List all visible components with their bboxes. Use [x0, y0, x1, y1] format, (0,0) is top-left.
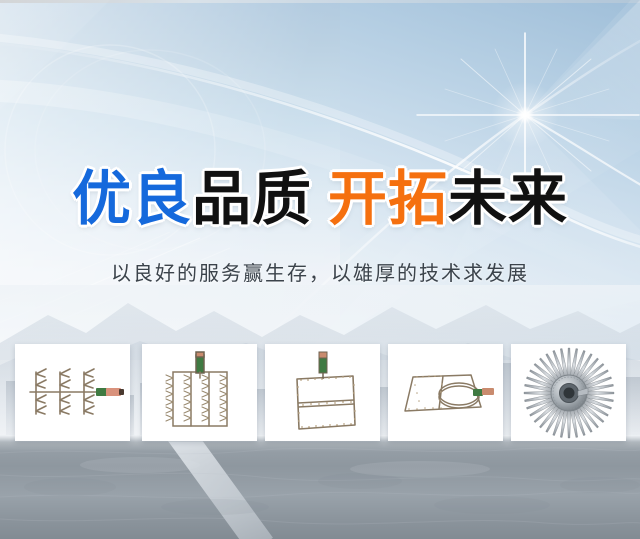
promo-banner: 优良品质开拓未来 以良好的服务赢生存，以雄厚的技术求发展 — [0, 0, 640, 539]
page-title: 优良品质开拓未来 — [0, 166, 640, 232]
product-card-1[interactable] — [15, 344, 130, 441]
dense-tooth-rake-icon — [161, 350, 239, 436]
product-card-row — [0, 344, 640, 444]
concrete-ground-strip — [0, 435, 640, 539]
headline-segment-2: 品质 — [192, 164, 312, 233]
radial-star-disc-icon — [523, 347, 615, 439]
product-card-2[interactable] — [142, 344, 257, 441]
triple-rake-tool-icon — [20, 358, 125, 428]
headline-segment-4: 未来 — [448, 164, 568, 233]
product-card-3[interactable] — [265, 344, 380, 441]
rectangular-frame-rake-icon — [283, 349, 363, 437]
product-card-4[interactable] — [388, 344, 503, 441]
headline-segment-1: 优良 — [72, 164, 192, 233]
product-card-5[interactable] — [511, 344, 626, 441]
ground-texture — [0, 435, 640, 539]
headline-segment-3: 开拓 — [328, 164, 448, 233]
page-subtitle: 以良好的服务赢生存，以雄厚的技术求发展 — [0, 258, 640, 288]
ring-frame-dredge-icon — [395, 359, 497, 427]
